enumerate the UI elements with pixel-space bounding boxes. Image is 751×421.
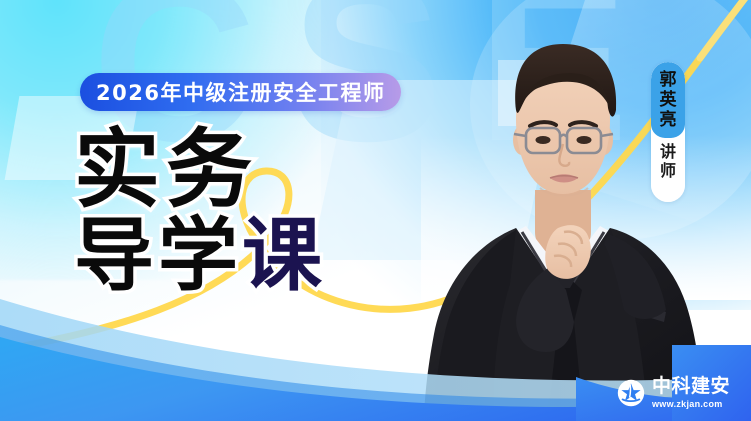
course-title-line2-navy: 课	[242, 209, 326, 302]
instructor-name-char-2: 亮	[660, 111, 677, 131]
instructor-name-char-0: 郭	[660, 71, 677, 91]
brand-url: www.zkjan.com	[652, 399, 730, 410]
brand-logo[interactable]: 中科建安 www.zkjan.com	[603, 365, 751, 421]
brand-mark-icon	[617, 379, 645, 407]
course-title-block: 实务 导学课	[74, 128, 326, 296]
instructor-role-section: 讲 师	[651, 138, 685, 202]
instructor-role-char-1: 师	[660, 162, 676, 181]
course-title-line2: 导学课	[74, 216, 326, 296]
instructor-name-char-1: 英	[660, 91, 677, 111]
brand-name: 中科建安	[652, 377, 730, 397]
instructor-name-section: 郭 英 亮	[651, 62, 685, 138]
course-title-line1: 实务	[74, 128, 326, 212]
course-promo-banner: CSE	[0, 0, 751, 421]
badge-label: 2026年中级注册安全工程师	[96, 77, 385, 107]
brand-text-block: 中科建安 www.zkjan.com	[652, 377, 730, 410]
course-category-badge[interactable]: 2026年中级注册安全工程师	[80, 73, 401, 111]
instructor-name-pill[interactable]: 郭 英 亮 讲 师	[651, 62, 685, 202]
course-title-line2-dark: 导学	[74, 209, 242, 302]
instructor-role-char-0: 讲	[660, 143, 676, 162]
